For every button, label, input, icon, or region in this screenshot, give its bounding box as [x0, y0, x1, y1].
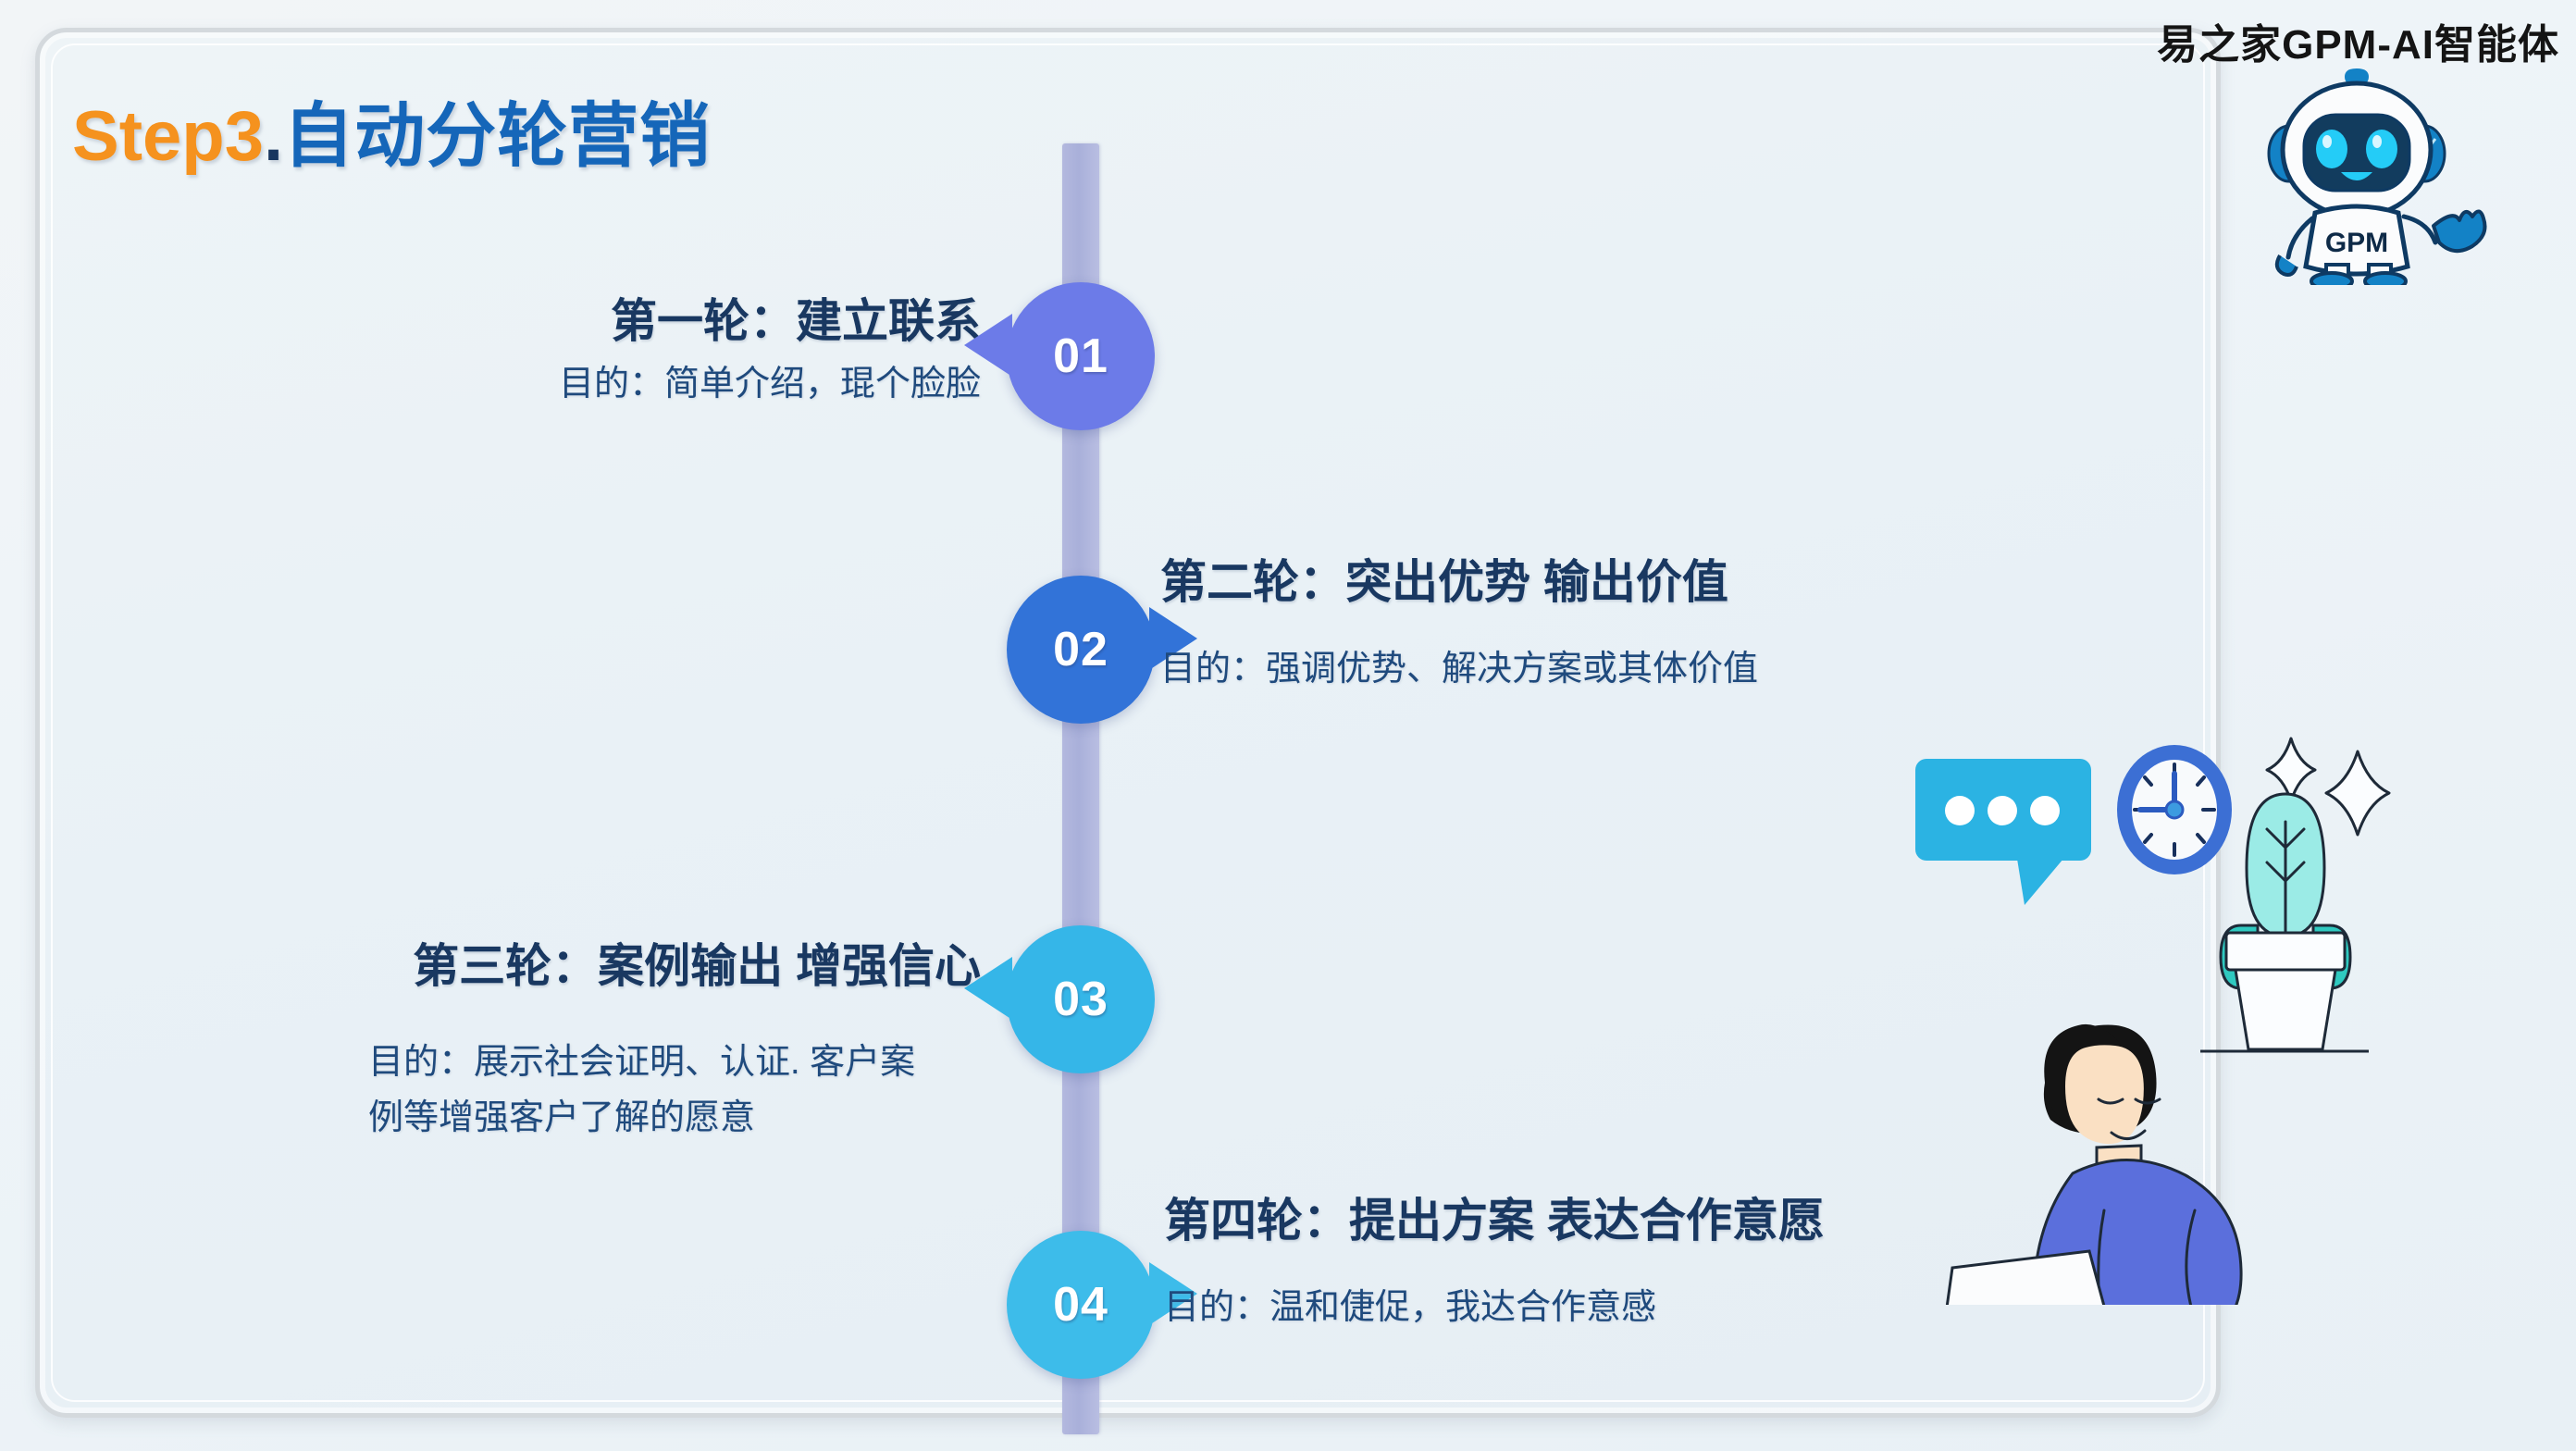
chat-bubble-icon — [1915, 759, 2091, 905]
round-badge-03[interactable]: 03 — [1007, 925, 1155, 1073]
step-dot: . — [264, 97, 283, 176]
workspace-illustration — [1906, 713, 2480, 1305]
round-badge-02[interactable]: 02 — [1007, 576, 1155, 724]
round-sub-03-line-2: 例等增强客户了解的愿意 — [368, 1094, 915, 1144]
badge-tail-03 — [964, 957, 1012, 1020]
round-badge-03-label: 03 — [1053, 972, 1108, 1027]
badge-tail-01 — [964, 314, 1012, 377]
round-sub-03-line-1: 目的：展示社会证明、认证. 客户案 — [368, 1038, 915, 1088]
round-badge-01-label: 01 — [1053, 329, 1108, 384]
person-at-laptop-icon — [1917, 1024, 2374, 1305]
round-badge-02-label: 02 — [1053, 622, 1108, 677]
robot-chest-label: GPM — [2325, 228, 2388, 258]
page-title: Step3.自动分轮营销 — [72, 102, 711, 172]
gpm-robot-mascot: GPM — [2223, 54, 2491, 285]
step-title-text: 自动分轮营销 — [283, 97, 711, 176]
round-sub-02-line-1: 目的：强调优势、解决方案或其体价值 — [1160, 645, 1758, 695]
slide-frame — [35, 28, 2221, 1418]
round-heading-01: 第一轮：建立联系 — [0, 294, 981, 349]
round-heading-03: 第三轮：案例输出 增强信心 — [0, 939, 981, 994]
clock-icon — [2117, 745, 2232, 874]
round-heading-02: 第二轮：突出优势 输出价值 — [1160, 555, 1758, 610]
round-badge-04-label: 04 — [1053, 1277, 1108, 1333]
step-number: Step3 — [72, 97, 264, 176]
round-sub-01-line-1: 目的：简单介绍，琨个脸脸 — [0, 360, 981, 410]
round-heading-04: 第四轮：提出方案 表达合作意愿 — [1164, 1194, 1825, 1248]
round-badge-04[interactable]: 04 — [1007, 1231, 1155, 1379]
round-sub-04-line-1: 目的：温和倢促，我达合作意感 — [1164, 1284, 1825, 1333]
round-badge-01[interactable]: 01 — [1007, 282, 1155, 430]
